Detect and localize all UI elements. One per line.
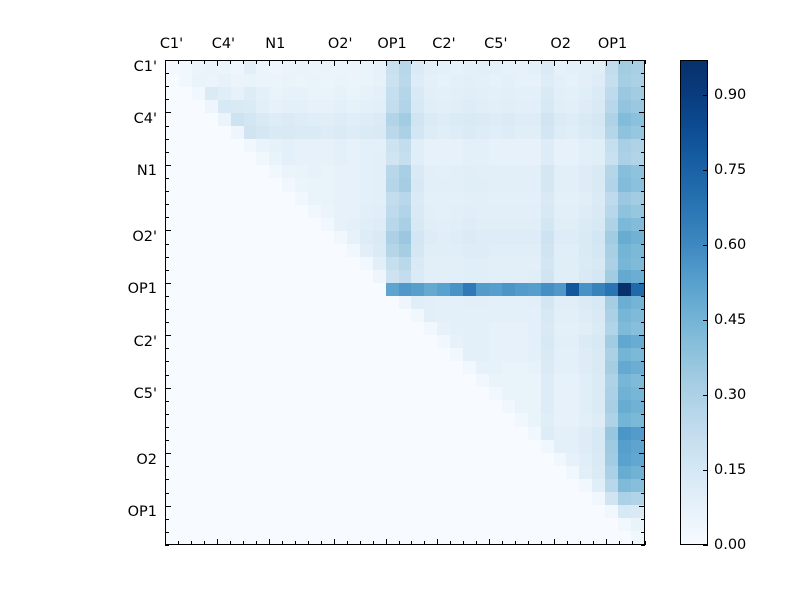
heatmap-cell: [218, 335, 231, 348]
ytick-right: [641, 375, 645, 376]
ytick-left: [165, 86, 169, 87]
heatmap-cell: [424, 244, 437, 257]
heatmap-cell: [179, 361, 192, 374]
heatmap-cell: [360, 270, 373, 283]
heatmap-cell: [618, 309, 631, 322]
xtick-top: [256, 60, 257, 64]
heatmap-cell: [592, 192, 605, 205]
heatmap-cell: [308, 126, 321, 139]
heatmap-cell: [386, 309, 399, 322]
heatmap-cell: [554, 152, 567, 165]
heatmap-cell: [321, 309, 334, 322]
xtick-bottom: [645, 541, 646, 545]
heatmap-cell: [592, 205, 605, 218]
heatmap-cell: [308, 283, 321, 296]
heatmap-cell: [373, 270, 386, 283]
heatmap-cell: [347, 139, 360, 152]
heatmap-cell: [528, 531, 541, 544]
heatmap-cell: [476, 518, 489, 531]
heatmap-cell: [463, 531, 476, 544]
ytick-right: [641, 178, 645, 179]
heatmap-cell: [386, 322, 399, 335]
heatmap-cell: [618, 348, 631, 361]
heatmap-cell: [295, 400, 308, 413]
heatmap-cell: [515, 74, 528, 87]
heatmap-cell: [411, 466, 424, 479]
heatmap-cell: [244, 361, 257, 374]
heatmap-cell: [399, 152, 412, 165]
heatmap-cell: [295, 113, 308, 126]
heatmap-cell: [463, 322, 476, 335]
heatmap-cell: [450, 87, 463, 100]
xtick-bottom: [606, 539, 607, 545]
heatmap-cell: [244, 205, 257, 218]
heatmap-cell: [631, 231, 644, 244]
heatmap-cell: [231, 531, 244, 544]
heatmap-cell: [373, 139, 386, 152]
heatmap-cell: [373, 244, 386, 257]
heatmap-cell: [631, 505, 644, 518]
heatmap-cell: [437, 427, 450, 440]
heatmap-cell: [205, 296, 218, 309]
heatmap-cell: [218, 74, 231, 87]
heatmap-cell: [566, 126, 579, 139]
heatmap-cell: [566, 113, 579, 126]
ytick-left: [165, 361, 169, 362]
heatmap-cell: [282, 400, 295, 413]
heatmap-cell: [166, 387, 179, 400]
heatmap-cell: [450, 218, 463, 231]
heatmap-cell: [618, 453, 631, 466]
heatmap-cell: [605, 152, 618, 165]
heatmap-cell: [541, 518, 554, 531]
heatmap-cell: [166, 413, 179, 426]
heatmap-cell: [476, 283, 489, 296]
heatmap-cell: [399, 270, 412, 283]
heatmap-cell: [411, 296, 424, 309]
heatmap-cell: [579, 139, 592, 152]
heatmap-cell: [256, 244, 269, 257]
heatmap-cell: [424, 165, 437, 178]
heatmap-cell: [386, 374, 399, 387]
heatmap-cell: [515, 322, 528, 335]
heatmap-cell: [373, 126, 386, 139]
heatmap-cell: [386, 518, 399, 531]
heatmap-cell: [541, 361, 554, 374]
heatmap-cell: [489, 531, 502, 544]
heatmap-cell: [386, 74, 399, 87]
heatmap-cell: [515, 139, 528, 152]
heatmap-cell: [360, 466, 373, 479]
heatmap-cell: [386, 335, 399, 348]
heatmap-cell: [476, 309, 489, 322]
heatmap-cell: [269, 309, 282, 322]
heatmap-cell: [192, 505, 205, 518]
heatmap-cell: [179, 505, 192, 518]
heatmap-cell: [360, 257, 373, 270]
heatmap-cell: [554, 531, 567, 544]
heatmap-cell: [347, 453, 360, 466]
heatmap-cell: [411, 361, 424, 374]
heatmap-cell: [218, 492, 231, 505]
heatmap-cell: [463, 165, 476, 178]
heatmap-cell: [282, 126, 295, 139]
heatmap-cell: [192, 192, 205, 205]
xtick-top: [450, 60, 451, 64]
colorbar-tick-label: 0.60: [714, 237, 746, 253]
xtick-top: [230, 60, 231, 64]
heatmap-cell: [205, 244, 218, 257]
heatmap-cell: [192, 178, 205, 191]
heatmap-cell: [334, 400, 347, 413]
ytick-left: [165, 257, 169, 258]
heatmap-cell: [205, 152, 218, 165]
heatmap-cell: [218, 87, 231, 100]
heatmap-cell: [502, 479, 515, 492]
heatmap-cell: [476, 413, 489, 426]
heatmap-cell: [308, 218, 321, 231]
heatmap-cell: [605, 492, 618, 505]
heatmap-cell: [554, 387, 567, 400]
heatmap-cell: [373, 257, 386, 270]
xtick-top: [373, 60, 374, 64]
heatmap-cell: [295, 244, 308, 257]
heatmap-cell: [592, 257, 605, 270]
heatmap-cell: [515, 87, 528, 100]
heatmap-cell: [192, 361, 205, 374]
heatmap-cell: [360, 244, 373, 257]
heatmap-cell: [269, 492, 282, 505]
heatmap-cell: [205, 348, 218, 361]
heatmap-cell: [541, 126, 554, 139]
heatmap-cell: [295, 61, 308, 74]
heatmap-cell: [334, 479, 347, 492]
heatmap-cell: [179, 139, 192, 152]
heatmap-cell: [515, 400, 528, 413]
heatmap-cell: [437, 61, 450, 74]
heatmap-cell: [450, 283, 463, 296]
heatmap-cell: [489, 387, 502, 400]
heatmap-cell: [399, 453, 412, 466]
heatmap-cell: [605, 296, 618, 309]
heatmap-cell: [592, 244, 605, 257]
heatmap-cell: [244, 257, 257, 270]
heatmap-cell: [347, 192, 360, 205]
heatmap-cell: [295, 205, 308, 218]
heatmap-cell: [256, 374, 269, 387]
xtick-bottom: [269, 539, 270, 545]
heatmap-cell: [373, 427, 386, 440]
heatmap-cell: [554, 113, 567, 126]
heatmap-cell: [502, 74, 515, 87]
heatmap-cell: [192, 61, 205, 74]
heatmap-cell: [618, 231, 631, 244]
xtick-bottom: [204, 541, 205, 545]
heatmap-cell: [179, 100, 192, 113]
colorbar-tick: [703, 320, 708, 321]
heatmap-cell: [502, 270, 515, 283]
heatmap-cell: [269, 152, 282, 165]
heatmap-cell: [437, 413, 450, 426]
heatmap-cell: [192, 479, 205, 492]
heatmap-cell: [166, 374, 179, 387]
ytick-right: [641, 493, 645, 494]
heatmap-cell: [205, 87, 218, 100]
heatmap-cell: [489, 309, 502, 322]
heatmap-cell: [218, 413, 231, 426]
heatmap-cell: [450, 296, 463, 309]
heatmap-cell: [347, 87, 360, 100]
heatmap-cell: [579, 244, 592, 257]
heatmap-cell: [256, 335, 269, 348]
heatmap-cell: [476, 374, 489, 387]
heatmap-cell: [179, 126, 192, 139]
heatmap-cell: [450, 205, 463, 218]
heatmap-cell: [631, 440, 644, 453]
heatmap-cell: [347, 348, 360, 361]
colorbar-tick-label: 0.30: [714, 387, 746, 403]
heatmap-cell: [231, 492, 244, 505]
heatmap-cell: [605, 231, 618, 244]
xtick-label: C5': [484, 36, 507, 52]
heatmap-cell: [566, 466, 579, 479]
heatmap-cell: [411, 492, 424, 505]
heatmap-cell: [192, 218, 205, 231]
heatmap-cell: [205, 466, 218, 479]
heatmap-cell: [631, 205, 644, 218]
heatmap-cell: [347, 165, 360, 178]
heatmap-cell: [437, 296, 450, 309]
heatmap-cell: [541, 87, 554, 100]
heatmap-cell: [334, 322, 347, 335]
heatmap-cell: [489, 178, 502, 191]
heatmap-cell: [579, 322, 592, 335]
heatmap-cell: [541, 100, 554, 113]
heatmap-cell: [321, 205, 334, 218]
heatmap-cell: [347, 100, 360, 113]
heatmap-cell: [295, 165, 308, 178]
heatmap-cell: [579, 126, 592, 139]
heatmap-cell: [528, 361, 541, 374]
heatmap-cell: [347, 479, 360, 492]
heatmap-cell: [528, 87, 541, 100]
heatmap-cell: [205, 387, 218, 400]
heatmap-cell: [605, 453, 618, 466]
heatmap-cell: [295, 100, 308, 113]
heatmap-cell: [166, 231, 179, 244]
heatmap-cell: [347, 492, 360, 505]
heatmap-cell: [256, 87, 269, 100]
heatmap-cell: [476, 322, 489, 335]
xtick-bottom: [411, 541, 412, 545]
heatmap-cell: [308, 231, 321, 244]
ytick-right: [641, 519, 645, 520]
heatmap-cell: [399, 100, 412, 113]
heatmap-cell: [489, 139, 502, 152]
xtick-bottom: [476, 541, 477, 545]
heatmap-cell: [179, 270, 192, 283]
heatmap-cell: [179, 387, 192, 400]
heatmap-cell: [373, 335, 386, 348]
heatmap-cell: [166, 87, 179, 100]
heatmap-cell: [463, 309, 476, 322]
heatmap-cell: [463, 61, 476, 74]
heatmap-cell: [231, 61, 244, 74]
ytick-right: [641, 348, 645, 349]
heatmap-cell: [347, 400, 360, 413]
heatmap-cell: [192, 231, 205, 244]
heatmap-cell: [282, 61, 295, 74]
ytick-left: [165, 427, 169, 428]
heatmap-cell: [360, 348, 373, 361]
heatmap-cell: [528, 139, 541, 152]
heatmap-cell: [502, 440, 515, 453]
heatmap-cell: [166, 178, 179, 191]
heatmap-cell: [347, 152, 360, 165]
colorbar[interactable]: [680, 60, 708, 545]
heatmap-cell: [244, 296, 257, 309]
heatmap-cell: [231, 152, 244, 165]
heatmap-cell: [360, 113, 373, 126]
heatmap-cell: [295, 466, 308, 479]
heatmap-cell: [334, 413, 347, 426]
heatmap-cell: [321, 257, 334, 270]
heatmap-cell: [218, 531, 231, 544]
heatmap-cell: [308, 139, 321, 152]
xtick-top: [347, 60, 348, 64]
heatmap-cell: [502, 374, 515, 387]
heatmap-cell: [244, 139, 257, 152]
heatmap-cell: [528, 453, 541, 466]
heatmap-cell: [295, 479, 308, 492]
heatmap-cell: [308, 453, 321, 466]
heatmap-cell: [256, 479, 269, 492]
heatmap-cell: [463, 87, 476, 100]
heatmap-cell: [399, 374, 412, 387]
heatmap-cell: [373, 400, 386, 413]
heatmap-cell: [515, 296, 528, 309]
heatmap-cell: [386, 257, 399, 270]
heatmap-cell: [605, 270, 618, 283]
heatmap-cell: [489, 244, 502, 257]
heatmap-cell: [579, 205, 592, 218]
heatmap-cell: [489, 453, 502, 466]
heatmap-cell: [579, 296, 592, 309]
heatmap-cell: [566, 400, 579, 413]
heatmap-cell: [231, 139, 244, 152]
heatmap-cell: [399, 466, 412, 479]
heatmap-cell: [218, 453, 231, 466]
heatmap-cell: [489, 165, 502, 178]
heatmap-cell: [489, 413, 502, 426]
heatmap-cell: [308, 192, 321, 205]
heatmap-cell: [192, 257, 205, 270]
heatmap-cell: [541, 440, 554, 453]
heatmap-cell: [476, 466, 489, 479]
heatmap-cell: [579, 231, 592, 244]
heatmap-cell: [308, 374, 321, 387]
heatmap-cell: [618, 466, 631, 479]
xtick-bottom: [619, 541, 620, 545]
heatmap-cell: [489, 74, 502, 87]
heatmap-cell: [489, 205, 502, 218]
xtick-bottom: [632, 541, 633, 545]
heatmap-cell: [411, 126, 424, 139]
xtick-top: [191, 60, 192, 64]
heatmap-cell: [579, 453, 592, 466]
heatmap-cell: [244, 387, 257, 400]
ytick-left: [165, 73, 169, 74]
ytick-right: [641, 204, 645, 205]
xtick-top: [204, 60, 205, 64]
heatmap-cell: [295, 231, 308, 244]
heatmap-axes[interactable]: [165, 60, 645, 545]
heatmap-cell: [411, 348, 424, 361]
heatmap-cell: [244, 453, 257, 466]
heatmap-cell: [554, 270, 567, 283]
heatmap-cell: [360, 453, 373, 466]
heatmap-cell: [179, 244, 192, 257]
heatmap-cell: [256, 413, 269, 426]
heatmap-cell: [515, 218, 528, 231]
heatmap-cell: [347, 427, 360, 440]
heatmap-cell: [321, 192, 334, 205]
ytick-left: [165, 139, 169, 140]
heatmap-cell: [424, 479, 437, 492]
heatmap-cell: [282, 492, 295, 505]
heatmap-cell: [579, 218, 592, 231]
figure-canvas: C1'C4'N1O2'OP1C2'C5'O2OP1C1'C4'N1O2'OP1C…: [0, 0, 800, 600]
xtick-top: [360, 60, 361, 64]
heatmap-cell: [308, 335, 321, 348]
heatmap-cell: [321, 283, 334, 296]
heatmap-cell: [502, 466, 515, 479]
heatmap-cell: [282, 218, 295, 231]
heatmap-cell: [373, 322, 386, 335]
heatmap-cell: [424, 400, 437, 413]
heatmap-cell: [282, 296, 295, 309]
heatmap-cell: [437, 479, 450, 492]
heatmap-cell: [411, 270, 424, 283]
heatmap-cell: [592, 322, 605, 335]
heatmap-cell: [450, 244, 463, 257]
heatmap-cell: [282, 100, 295, 113]
heatmap-cell: [476, 113, 489, 126]
heatmap-cell: [411, 453, 424, 466]
heatmap-cell: [605, 165, 618, 178]
heatmap-cell: [515, 205, 528, 218]
ytick-left: [165, 335, 171, 336]
heatmap-cell: [476, 192, 489, 205]
heatmap-cell: [618, 440, 631, 453]
heatmap-cell: [321, 322, 334, 335]
xtick-bottom: [580, 541, 581, 545]
heatmap-cell: [579, 466, 592, 479]
ytick-left: [165, 99, 169, 100]
heatmap-cell: [592, 178, 605, 191]
heatmap-cell: [386, 61, 399, 74]
heatmap-cell: [166, 322, 179, 335]
heatmap-cell: [463, 152, 476, 165]
heatmap-cell: [334, 113, 347, 126]
heatmap-cell: [631, 309, 644, 322]
heatmap-cell: [592, 374, 605, 387]
heatmap-cell: [321, 440, 334, 453]
heatmap-cell: [566, 387, 579, 400]
heatmap-cell: [282, 139, 295, 152]
ytick-left: [165, 152, 169, 153]
heatmap-cell: [399, 296, 412, 309]
